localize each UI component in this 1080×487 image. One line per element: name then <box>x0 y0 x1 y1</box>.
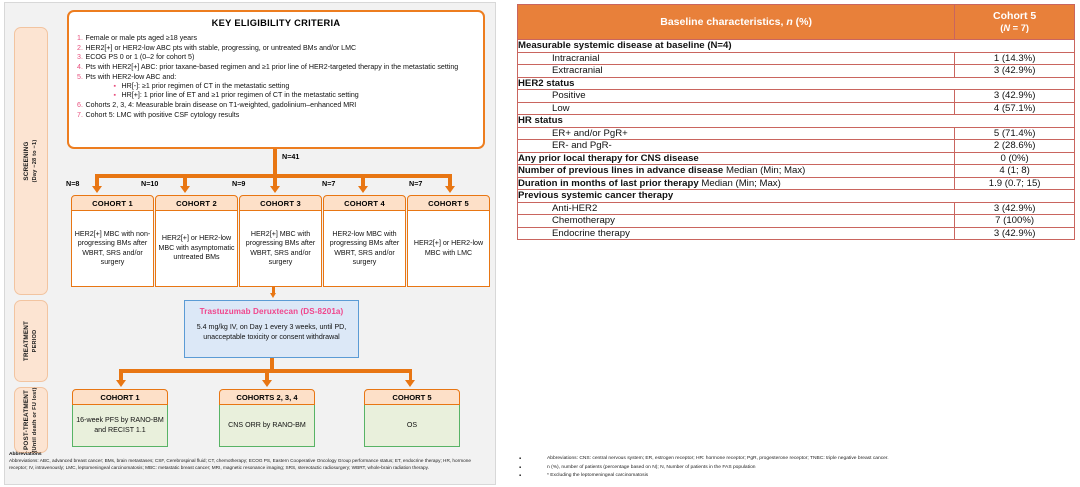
row-value: 2 (28.6%) <box>955 140 1075 153</box>
row-label: Measurable systemic disease at baseline … <box>518 40 1075 53</box>
row-label-normal: Median (Min; Max) <box>723 165 805 176</box>
treatment-dose-text: 5.4 mg/kg IV, on Day 1 every 3 weeks, un… <box>185 323 358 342</box>
footnote-text: Abbreviations: CNS: central nervous syst… <box>547 456 889 461</box>
header-cohort-line1: Cohort 5 <box>993 10 1036 22</box>
table-row: Extracranial3 (42.9%) <box>518 65 1075 78</box>
table-row: HR status <box>518 115 1075 128</box>
arrowhead-cohort-2 <box>180 186 190 193</box>
eligibility-item: 4.Pts with HER2[+] ABC: prior taxane-bas… <box>77 63 475 72</box>
bullet-icon: ▪ <box>114 91 116 100</box>
cohort-2-title: COHORT 2 <box>155 195 238 211</box>
row-label-normal: Median (Min; Max) <box>699 178 781 189</box>
table-row: Positive3 (42.9%) <box>518 90 1075 103</box>
arrowhead-endpoint-1 <box>116 380 126 387</box>
eligibility-item: 7.Cohort 5: LMC with positive CSF cytolo… <box>77 111 475 120</box>
row-label: Previous systemic cancer therapy <box>518 190 1075 203</box>
item-number: 3. <box>77 53 83 62</box>
row-label: Anti-HER2 <box>518 202 955 215</box>
baseline-characteristics-table: Baseline characteristics, n (%) Cohort 5… <box>517 4 1075 240</box>
table-row: Any prior local therapy for CNS disease0… <box>518 152 1075 165</box>
table-row: HER2 status <box>518 77 1075 90</box>
cohort-n-label-2: N=10 <box>141 179 158 188</box>
phase-screening-name: SCREENING <box>23 141 30 180</box>
footnote-text: * Excluding the leptomeningeal carcinoma… <box>547 473 648 478</box>
footnote-line: ▪n (%), number of patients (percentage b… <box>517 464 1077 473</box>
row-value: 5 (71.4%) <box>955 127 1075 140</box>
phase-screening-sub: (Day −28 to −1) <box>31 140 39 183</box>
header-cell-cohort5: Cohort 5(N = 7) <box>955 5 1075 40</box>
eligibility-criteria-box: KEY ELIGIBILITY CRITERIA 1.Female or mal… <box>67 10 485 149</box>
arrowhead-cohort-3 <box>270 186 280 193</box>
item-text: Pts with HER2-low ABC and: <box>86 73 177 81</box>
header-post: (%) <box>793 16 812 28</box>
endpoint-1-description: 16-week PFS by RANO-BM and RECIST 1.1 <box>72 405 168 447</box>
paren-close: = 7) <box>1010 23 1029 33</box>
table-body: Measurable systemic disease at baseline … <box>518 40 1075 240</box>
endpoint-2-description: CNS ORR by RANO-BM <box>219 405 315 447</box>
footnote-line: ▪Abbreviations: CNS: central nervous sys… <box>517 455 1077 464</box>
cohort-4-description: HER2-low MBC with progressing BMs after … <box>323 211 406 287</box>
cohort-1-title: COHORT 1 <box>71 195 154 211</box>
row-value: 0 (0%) <box>955 152 1075 165</box>
phase-label-screening: SCREENING (Day −28 to −1) <box>14 27 48 295</box>
footnote-line: ▪* Excluding the leptomeningeal carcinom… <box>517 472 1077 481</box>
eligibility-item: 6.Cohorts 2, 3, 4: Measurable brain dise… <box>77 101 475 110</box>
cohort-2-description: HER2[+] or HER2-low MBC with asymptomati… <box>155 211 238 287</box>
row-label: Chemotherapy <box>518 215 955 228</box>
cohort-box-2: COHORT 2 HER2[+] or HER2-low MBC with as… <box>155 195 238 287</box>
phase-treatment-sub: PERIOD <box>31 321 39 361</box>
arrowhead-cohort-4 <box>358 186 368 193</box>
eligibility-item: 5.Pts with HER2-low ABC and: ▪HR[-]: ≥1 … <box>77 73 475 101</box>
row-value: 3 (42.9%) <box>955 90 1075 103</box>
table-row: Chemotherapy7 (100%) <box>518 215 1075 228</box>
row-value: 3 (42.9%) <box>955 65 1075 78</box>
eligibility-subitem: ▪HR[-]: ≥1 prior regimen of CT in the me… <box>86 82 476 91</box>
row-value: 1.9 (0.7; 15) <box>955 177 1075 190</box>
cohort-n-label-3: N=9 <box>232 179 245 188</box>
item-text: Pts with HER2[+] ABC: prior taxane-based… <box>86 63 459 71</box>
bullet-icon: ▪ <box>519 471 521 482</box>
phase-post-sub: (Until death or FU lost) <box>31 387 39 452</box>
row-value: 7 (100%) <box>955 215 1075 228</box>
endpoint-3-title: COHORT 5 <box>364 389 460 405</box>
item-number: 4. <box>77 63 83 72</box>
cohort-n-label-4: N=7 <box>322 179 335 188</box>
cohort-n-label-1: N=8 <box>66 179 79 188</box>
table-row: Number of previous lines in advance dise… <box>518 165 1075 178</box>
header-cell-characteristics: Baseline characteristics, n (%) <box>518 5 955 40</box>
cohort-box-4: COHORT 4 HER2-low MBC with progressing B… <box>323 195 406 287</box>
table-row: ER- and PgR-2 (28.6%) <box>518 140 1075 153</box>
arrowhead-endpoint-3 <box>405 380 415 387</box>
row-label: Any prior local therapy for CNS disease <box>518 152 955 165</box>
subitem-text: HR[-]: ≥1 prior regimen of CT in the met… <box>122 82 290 90</box>
table-footnotes: ▪Abbreviations: CNS: central nervous sys… <box>517 455 1077 481</box>
slide-canvas: SCREENING (Day −28 to −1) TREATMENT PERI… <box>0 0 1080 487</box>
phase-label-treatment: TREATMENT PERIOD <box>14 300 48 382</box>
eligibility-item: 2.HER2[+] or HER2-low ABC pts with stabl… <box>77 44 475 53</box>
row-label: Endocrine therapy <box>518 227 955 240</box>
header-cohort-line2: (N = 7) <box>959 23 1070 34</box>
cohort-5-description: HER2[+] or HER2-low MBC with LMC <box>407 211 490 287</box>
endpoint-1-title: COHORT 1 <box>72 389 168 405</box>
row-label: HER2 status <box>518 77 1075 90</box>
row-label: HR status <box>518 115 1075 128</box>
eligibility-item: 3.ECOG PS 0 or 1 (0–2 for cohort 5) <box>77 53 475 62</box>
item-text: Female or male pts aged ≥18 years <box>86 34 198 42</box>
eligibility-title: KEY ELIGIBILITY CRITERIA <box>77 18 475 28</box>
eligibility-subitem: ▪HR[+]: 1 prior line of ET and ≥1 prior … <box>86 91 476 100</box>
row-label: Number of previous lines in advance dise… <box>518 165 955 178</box>
item-text: Cohorts 2, 3, 4: Measurable brain diseas… <box>86 101 357 109</box>
total-n-label: N=41 <box>282 152 299 161</box>
row-label: Positive <box>518 90 955 103</box>
cohort-n-label-5: N=7 <box>409 179 422 188</box>
cohort-4-title: COHORT 4 <box>323 195 406 211</box>
row-value: 3 (42.9%) <box>955 202 1075 215</box>
table-header-row: Baseline characteristics, n (%) Cohort 5… <box>518 5 1075 40</box>
row-label: Duration in months of last prior therapy… <box>518 177 955 190</box>
table-row: Duration in months of last prior therapy… <box>518 177 1075 190</box>
table-row: Intracranial1 (14.3%) <box>518 52 1075 65</box>
item-number: 1. <box>77 34 83 43</box>
cohort-1-description: HER2[+] MBC with non-progressing BMs aft… <box>71 211 154 287</box>
study-schema-panel: SCREENING (Day −28 to −1) TREATMENT PERI… <box>4 2 496 485</box>
eligibility-list: 1.Female or male pts aged ≥18 years 2.HE… <box>77 34 475 120</box>
endpoint-box-2: COHORTS 2, 3, 4 CNS ORR by RANO-BM <box>219 389 315 447</box>
row-label-bold: Number of previous lines in advance dise… <box>518 165 723 176</box>
table-row: ER+ and/or PgR+5 (71.4%) <box>518 127 1075 140</box>
table-row: Previous systemic cancer therapy <box>518 190 1075 203</box>
connector-trunk-vertical <box>273 149 277 176</box>
item-number: 7. <box>77 111 83 120</box>
cohort-box-3: COHORT 3 HER2[+] MBC with progressing BM… <box>239 195 322 287</box>
row-label: Low <box>518 102 955 115</box>
row-value: 1 (14.3%) <box>955 52 1075 65</box>
item-text: Cohort 5: LMC with positive CSF cytology… <box>86 111 240 119</box>
table-header: Baseline characteristics, n (%) Cohort 5… <box>518 5 1075 40</box>
cohort-3-title: COHORT 3 <box>239 195 322 211</box>
item-number: 5. <box>77 73 83 82</box>
item-number: 2. <box>77 44 83 53</box>
eligibility-sublist: ▪HR[-]: ≥1 prior regimen of CT in the me… <box>86 82 476 100</box>
cohort-box-5: COHORT 5 HER2[+] or HER2-low MBC with LM… <box>407 195 490 287</box>
arrowhead-cohort-1 <box>92 186 102 193</box>
item-text: HER2[+] or HER2-low ABC pts with stable,… <box>86 44 357 52</box>
phase-label-post-treatment: POST-TREATMENT (Until death or FU lost) <box>14 387 48 453</box>
row-label: Extracranial <box>518 65 955 78</box>
row-value: 3 (42.9%) <box>955 227 1075 240</box>
bullet-icon: ▪ <box>114 82 116 91</box>
phase-treatment-name: TREATMENT <box>23 321 30 361</box>
treatment-box: Trastuzumab Deruxtecan (DS-8201a) 5.4 mg… <box>184 300 359 358</box>
table-row: Low4 (57.1%) <box>518 102 1075 115</box>
footnote-text: n (%), number of patients (percentage ba… <box>547 465 756 470</box>
endpoint-box-3: COHORT 5 OS <box>364 389 460 447</box>
endpoint-box-1: COHORT 1 16-week PFS by RANO-BM and RECI… <box>72 389 168 447</box>
cohort-3-description: HER2[+] MBC with progressing BMs after W… <box>239 211 322 287</box>
arrowhead-cohort-5 <box>445 186 455 193</box>
endpoint-2-title: COHORTS 2, 3, 4 <box>219 389 315 405</box>
arrowhead-treatment <box>270 293 276 298</box>
table-row: Anti-HER23 (42.9%) <box>518 202 1075 215</box>
cohort-box-1: COHORT 1 HER2[+] MBC with non-progressin… <box>71 195 154 287</box>
row-label: Intracranial <box>518 52 955 65</box>
table-row: Endocrine therapy3 (42.9%) <box>518 227 1075 240</box>
row-label: ER+ and/or PgR+ <box>518 127 955 140</box>
abbreviations-body: Abbreviations: ABC, advanced breast canc… <box>9 457 487 471</box>
table-row: Measurable systemic disease at baseline … <box>518 40 1075 53</box>
header-pre: Baseline characteristics, <box>660 16 786 28</box>
row-value: 4 (57.1%) <box>955 102 1075 115</box>
item-text: ECOG PS 0 or 1 (0–2 for cohort 5) <box>86 53 195 61</box>
arrowhead-endpoint-2 <box>262 380 272 387</box>
eligibility-item: 1.Female or male pts aged ≥18 years <box>77 34 475 43</box>
schema-abbreviations: Abbreviations Abbreviations: ABC, advanc… <box>9 452 487 471</box>
endpoint-3-description: OS <box>364 405 460 447</box>
row-value: 4 (1; 8) <box>955 165 1075 178</box>
treatment-drug-name: Trastuzumab Deruxtecan (DS-8201a) <box>185 307 358 316</box>
cohort-5-title: COHORT 5 <box>407 195 490 211</box>
phase-post-name: POST-TREATMENT <box>23 390 30 450</box>
row-label: ER- and PgR- <box>518 140 955 153</box>
baseline-characteristics-table-wrapper: Baseline characteristics, n (%) Cohort 5… <box>517 4 1075 240</box>
item-number: 6. <box>77 101 83 110</box>
row-label-bold: Duration in months of last prior therapy <box>518 178 699 189</box>
subitem-text: HR[+]: 1 prior line of ET and ≥1 prior r… <box>122 91 359 99</box>
